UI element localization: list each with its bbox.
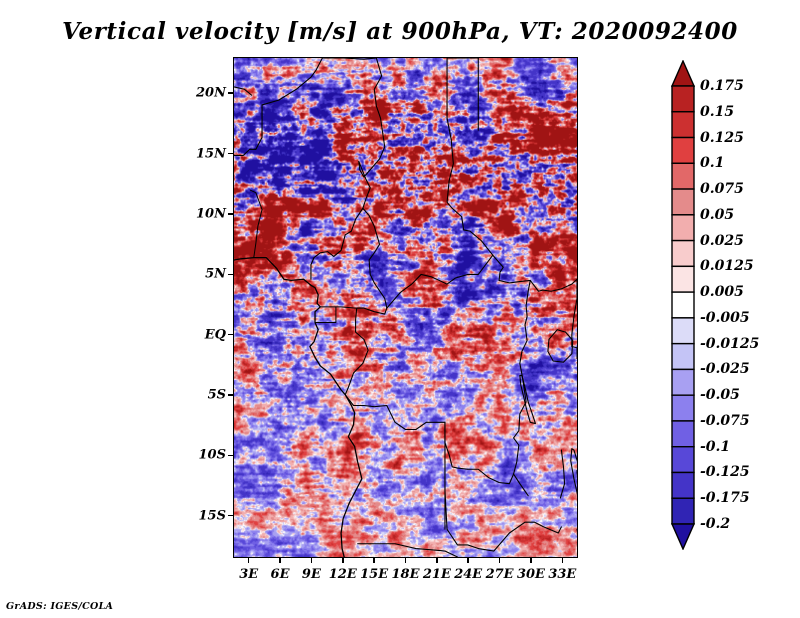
y-axis-tick-label: 20N bbox=[188, 86, 226, 101]
colorbar-tick-label: 0.05 bbox=[700, 207, 734, 223]
y-axis-tick bbox=[228, 334, 234, 336]
x-axis-tick-label: 9E bbox=[302, 567, 321, 582]
colorbar-tick-label: 0.075 bbox=[700, 181, 744, 197]
colorbar-tick-label: 0.125 bbox=[700, 130, 744, 146]
y-axis-tick bbox=[228, 455, 234, 457]
x-axis-tick bbox=[342, 557, 344, 563]
x-axis-tick bbox=[248, 557, 250, 563]
x-axis-tick bbox=[311, 557, 313, 563]
grads-plot-page: Vertical velocity [m/s] at 900hPa, VT: 2… bbox=[0, 0, 800, 618]
x-axis-tick-label: 21E bbox=[423, 567, 451, 582]
x-axis-tick bbox=[405, 557, 407, 563]
colorbar-tick-label: 0.025 bbox=[700, 233, 744, 249]
page-title: Vertical velocity [m/s] at 900hPa, VT: 2… bbox=[0, 18, 800, 45]
y-axis-tick bbox=[228, 274, 234, 276]
colorbar-tick-label: 0.175 bbox=[700, 78, 744, 94]
colorbar-tick-label: -0.075 bbox=[700, 413, 750, 429]
y-axis-tick-label: 10N bbox=[188, 206, 226, 221]
y-axis-tick-label: 5S bbox=[188, 388, 226, 403]
map-plot-area bbox=[233, 57, 578, 558]
y-axis-tick-label: 15N bbox=[188, 146, 226, 161]
x-axis-tick bbox=[373, 557, 375, 563]
y-axis-tick bbox=[228, 213, 234, 215]
x-axis-tick bbox=[530, 557, 532, 563]
x-axis-tick bbox=[279, 557, 281, 563]
y-axis-tick-label: EQ bbox=[188, 327, 226, 342]
x-axis-tick bbox=[562, 557, 564, 563]
colorbar-tick-label: -0.2 bbox=[700, 516, 730, 532]
colorbar-tick-label: 0.005 bbox=[700, 284, 744, 300]
y-axis-tick-label: 5N bbox=[188, 267, 226, 282]
x-axis-tick bbox=[467, 557, 469, 563]
x-axis-tick-label: 24E bbox=[454, 567, 482, 582]
x-axis-tick-label: 27E bbox=[486, 567, 514, 582]
y-axis-tick bbox=[228, 153, 234, 155]
y-axis-tick bbox=[228, 394, 234, 396]
x-axis-tick-label: 6E bbox=[271, 567, 290, 582]
colorbar-tick-label: 0.0125 bbox=[700, 258, 754, 274]
colorbar bbox=[671, 60, 695, 550]
colorbar-tick-label: 0.1 bbox=[700, 155, 724, 171]
colorbar-tick-label: -0.1 bbox=[700, 439, 730, 455]
colorbar-tick-label: -0.05 bbox=[700, 387, 740, 403]
x-axis-tick bbox=[436, 557, 438, 563]
y-axis-tick bbox=[228, 515, 234, 517]
colorbar-tick-label: 0.15 bbox=[700, 104, 734, 120]
x-axis-tick-label: 3E bbox=[239, 567, 258, 582]
x-axis-tick-label: 30E bbox=[517, 567, 545, 582]
country-borders-overlay bbox=[234, 58, 577, 557]
x-axis-tick-label: 33E bbox=[548, 567, 576, 582]
colorbar-tick-label: -0.005 bbox=[700, 310, 750, 326]
x-axis-tick-label: 18E bbox=[392, 567, 420, 582]
colorbar-tick-label: -0.125 bbox=[700, 464, 750, 480]
colorbar-tick-label: -0.175 bbox=[700, 490, 750, 506]
x-axis-tick bbox=[499, 557, 501, 563]
y-axis-tick-label: 10S bbox=[188, 448, 226, 463]
x-axis-tick-label: 12E bbox=[329, 567, 357, 582]
footer-credit: GrADS: IGES/COLA bbox=[6, 601, 113, 612]
colorbar-tick-label: -0.025 bbox=[700, 361, 750, 377]
colorbar-tick-label: -0.0125 bbox=[700, 336, 759, 352]
y-axis-tick bbox=[228, 92, 234, 94]
y-axis-tick-label: 15S bbox=[188, 508, 226, 523]
x-axis-tick-label: 15E bbox=[360, 567, 388, 582]
